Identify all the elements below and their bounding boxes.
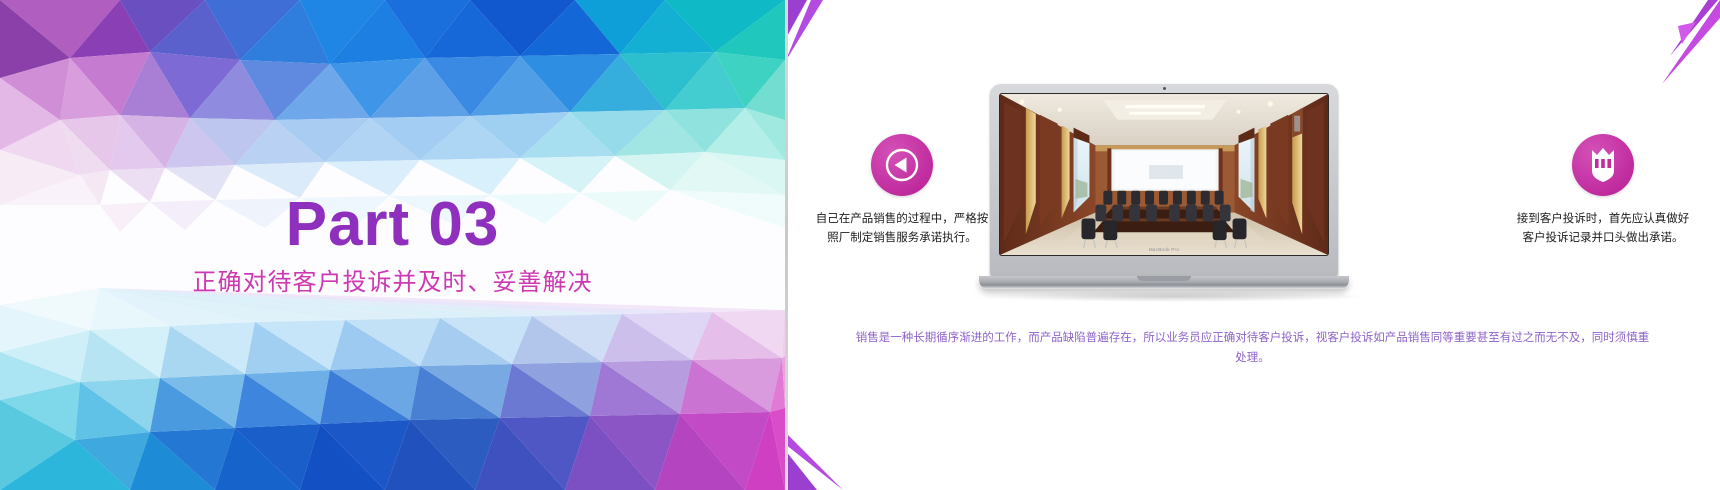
- crown-shield-icon[interactable]: [1572, 134, 1634, 196]
- crown-shield-glyph: [1586, 147, 1620, 183]
- page-title: Part 03: [286, 194, 500, 256]
- laptop-notch: [1137, 276, 1191, 281]
- play-left-glyph: [883, 146, 921, 184]
- laptop-mockup: MacBook Pro: [990, 84, 1340, 299]
- corner-stripe-bottom-left-icon: [785, 400, 875, 490]
- laptop-base: [979, 276, 1349, 289]
- right-content-panel: MacBook Pro 自己在产品销售的过程中，严格按照厂制定销售服务承诺执行。: [785, 0, 1720, 490]
- left-title-panel: Part 03 正确对待客户投诉并及时、妥善解决: [0, 0, 785, 490]
- panel-divider: [785, 0, 788, 490]
- corner-stripe-top-right-icon: [1600, 0, 1720, 90]
- laptop-shadow: [984, 291, 1366, 302]
- footer-paragraph: 销售是一种长期循序渐进的工作，而产品缺陷普遍存在，所以业务员应正确对待客户投诉，…: [853, 328, 1652, 368]
- play-circle-left-icon[interactable]: [871, 134, 933, 196]
- laptop-lid: MacBook Pro: [990, 84, 1338, 276]
- conference-room-photo: [1000, 94, 1328, 255]
- presentation-slide: Part 03 正确对待客户投诉并及时、妥善解决: [0, 0, 1720, 490]
- page-subtitle: 正确对待客户投诉并及时、妥善解决: [193, 262, 593, 297]
- title-block: Part 03 正确对待客户投诉并及时、妥善解决: [0, 0, 785, 490]
- laptop-brand-label: MacBook Pro: [1000, 247, 1328, 252]
- corner-stripe-top-left-icon: [785, 0, 875, 80]
- caption-right: 接到客户投诉时，首先应认真做好客户投诉记录并口头做出承诺。: [1515, 210, 1691, 248]
- webcam-icon: [1163, 87, 1166, 90]
- laptop-screen: MacBook Pro: [999, 93, 1329, 256]
- caption-left: 自己在产品销售的过程中，严格按照厂制定销售服务承诺执行。: [814, 210, 990, 248]
